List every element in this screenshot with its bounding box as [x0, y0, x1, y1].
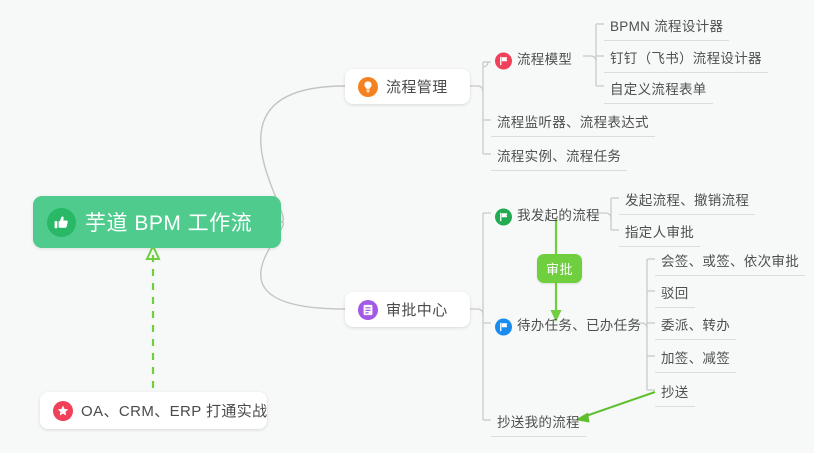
node-custom-form[interactable]: 自定义流程表单 — [604, 78, 713, 104]
branch-label: 审批中心 — [386, 299, 448, 320]
approval-flow-tag: 审批 — [537, 254, 582, 283]
cc-flow-arrow — [575, 392, 655, 423]
node-label: 抄送 — [661, 385, 689, 400]
node-countersign[interactable]: 会签、或签、依次审批 — [655, 250, 805, 276]
node-label: 流程实例、流程任务 — [497, 149, 621, 164]
node-reject[interactable]: 驳回 — [655, 282, 695, 308]
branch-label: 流程管理 — [386, 76, 448, 97]
callout-node-label: OA、CRM、ERP 打通实战 — [81, 400, 268, 421]
node-label: 委派、转办 — [661, 318, 730, 333]
node-start-cancel-process[interactable]: 发起流程、撤销流程 — [619, 189, 755, 215]
lightbulb-icon — [358, 77, 378, 97]
node-dingtalk-designer[interactable]: 钉钉（飞书）流程设计器 — [604, 47, 768, 73]
node-delegate-transfer[interactable]: 委派、转办 — [655, 314, 736, 340]
mindmap-canvas: 芋道 BPM 工作流 流程管理 流程模型 BPMN 流程设计器 钉钉（飞书 — [0, 0, 814, 453]
star-icon — [53, 401, 73, 421]
node-process-listener[interactable]: 流程监听器、流程表达式 — [491, 111, 655, 137]
flag-icon — [495, 318, 512, 335]
node-label: 我发起的流程 — [517, 208, 600, 223]
node-label: 自定义流程表单 — [610, 82, 707, 97]
flag-icon — [495, 52, 512, 69]
node-label: BPMN 流程设计器 — [610, 19, 723, 34]
branch-node-process-management[interactable]: 流程管理 — [345, 69, 470, 104]
node-bpmn-designer[interactable]: BPMN 流程设计器 — [604, 15, 729, 41]
node-todo-done-tasks[interactable]: 待办任务、已办任务 — [491, 314, 647, 339]
node-label: 流程模型 — [517, 52, 572, 67]
node-label: 发起流程、撤销流程 — [625, 193, 749, 208]
node-label: 驳回 — [661, 286, 689, 301]
node-label: 抄送我的流程 — [497, 415, 580, 430]
node-add-remove-sign[interactable]: 加签、减签 — [655, 347, 736, 373]
node-label: 加签、减签 — [661, 351, 730, 366]
node-process-model[interactable]: 流程模型 — [491, 48, 578, 73]
thumbs-up-icon — [47, 208, 76, 237]
node-cc[interactable]: 抄送 — [655, 381, 695, 407]
document-icon — [358, 300, 378, 320]
node-label: 待办任务、已办任务 — [517, 318, 641, 333]
root-node[interactable]: 芋道 BPM 工作流 — [33, 196, 281, 248]
node-process-instance[interactable]: 流程实例、流程任务 — [491, 145, 627, 171]
node-my-initiated-processes[interactable]: 我发起的流程 — [491, 204, 606, 229]
root-node-label: 芋道 BPM 工作流 — [85, 207, 252, 237]
integration-dashed-arrow — [147, 246, 159, 388]
node-label: 钉钉（飞书）流程设计器 — [610, 51, 762, 66]
approval-flow-tag-label: 审批 — [546, 262, 573, 277]
branch-node-approval-center[interactable]: 审批中心 — [345, 292, 470, 327]
node-assignee-approval[interactable]: 指定人审批 — [619, 221, 700, 247]
node-label: 流程监听器、流程表达式 — [497, 115, 649, 130]
node-label: 指定人审批 — [625, 225, 694, 240]
flag-icon — [495, 208, 512, 225]
node-label: 会签、或签、依次审批 — [661, 254, 799, 269]
callout-node-integration[interactable]: OA、CRM、ERP 打通实战 — [40, 392, 267, 429]
node-cc-to-me-processes[interactable]: 抄送我的流程 — [491, 411, 586, 437]
